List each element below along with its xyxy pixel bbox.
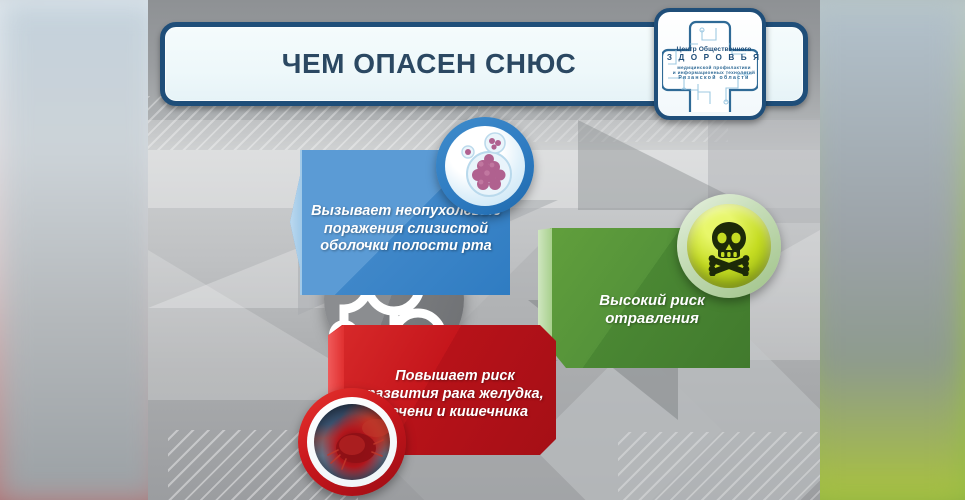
bg-stripes-d <box>618 432 820 500</box>
tumor-cell-icon <box>445 126 525 206</box>
logo-text-block: Центр Общественного З Д О Р О В Ь Я меди… <box>666 46 762 82</box>
tumor-cell-glyph <box>445 126 525 206</box>
cancer-badge-ring <box>307 397 397 487</box>
slide-stage: ЧЕМ ОПАСЕН СНЮС <box>0 0 965 500</box>
cancer-cell-glyph <box>314 404 390 480</box>
logo-line-5: Рязанской области <box>666 76 762 82</box>
slide-content-area: ЧЕМ ОПАСЕН СНЮС <box>148 0 820 500</box>
logo-line-1: Центр Общественного <box>666 46 762 53</box>
backdrop-left-band <box>0 0 160 500</box>
page-title: ЧЕМ ОПАСЕН СНЮС <box>282 48 576 80</box>
skull-crossbones-glyph <box>699 216 759 276</box>
backdrop-right-band <box>805 0 965 500</box>
cancer-badge <box>298 388 406 496</box>
logo-line-2: З Д О Р О В Ь Я <box>666 54 762 63</box>
poison-badge <box>677 194 781 298</box>
skull-crossbones-icon <box>687 204 771 288</box>
tumor-cell-badge <box>436 117 534 215</box>
panel-green-text: Высокий риск отравления <box>538 292 750 329</box>
organization-logo: Центр Общественного З Д О Р О В Ь Я меди… <box>654 8 766 120</box>
cancer-cell-microscopy-icon <box>314 404 390 480</box>
